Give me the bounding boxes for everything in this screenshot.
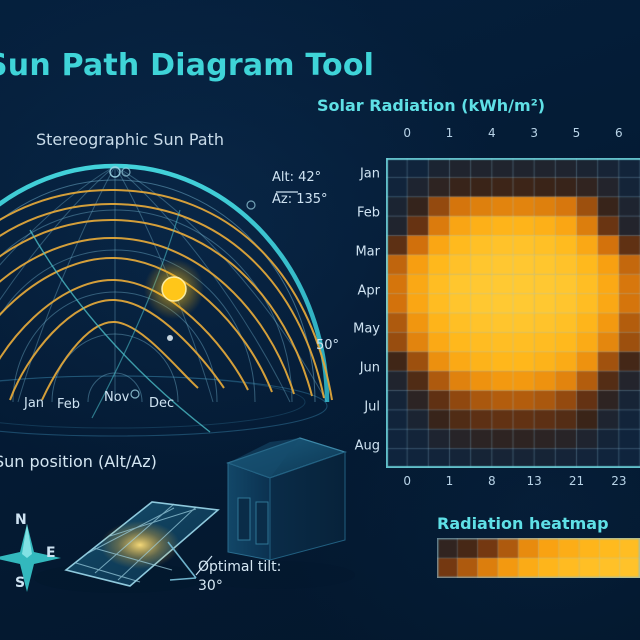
heatmap-month-label-feb: Feb [357, 206, 380, 221]
heatmap-month-label-jun: Jun [360, 361, 380, 376]
solar-panel-house-scene [0, 430, 360, 640]
heatmap-title: Solar Radiation (kWh/m²) [222, 96, 640, 115]
sunpath-month-label-nov: Nov [104, 390, 129, 405]
solar-radiation-heatmap[interactable] [386, 158, 640, 468]
app-root: Sun Path Diagram Tool Stereographic Sun … [0, 0, 640, 640]
sun-path-panel-title: Stereographic Sun Path [36, 130, 224, 149]
heatmap-top-tick-1: 1 [446, 126, 454, 140]
heatmap-top-axis: 014356 [386, 126, 640, 142]
house-illustration [228, 438, 345, 560]
optimal-tilt-annotation: Optimal tilt: 30° [198, 558, 281, 596]
heatmap-top-tick-2: 4 [488, 126, 496, 140]
heatmap-top-tick-4: 5 [573, 126, 581, 140]
sun-marker [144, 259, 204, 319]
sunpath-month-label-dec: Dec [149, 396, 174, 411]
heatmap-bottom-axis: 018132123 [386, 474, 640, 490]
heatmap-bottom-tick-4: 21 [569, 474, 584, 488]
heatmap-bottom-tick-1: 1 [446, 474, 454, 488]
radiation-heatmap-strip[interactable] [437, 538, 640, 578]
page-title: Sun Path Diagram Tool [0, 48, 374, 83]
heatmap-canvas[interactable] [386, 158, 640, 468]
azimuth-readout: Az: 135° [272, 192, 328, 207]
heatmap-month-label-apr: Apr [358, 283, 381, 298]
house-window-left [238, 498, 250, 540]
radiation-strip-title: Radiation heatmap [437, 514, 609, 533]
heatmap-bottom-tick-0: 0 [403, 474, 411, 488]
heatmap-month-axis: JanFebMarAprMayJunJulAug [336, 158, 380, 468]
heatmap-top-tick-3: 3 [530, 126, 538, 140]
heatmap-bottom-tick-2: 8 [488, 474, 496, 488]
house-window-right [256, 502, 268, 544]
radiation-strip-canvas[interactable] [437, 538, 640, 578]
heatmap-month-label-may: May [353, 322, 380, 337]
altitude-readout: Alt: 42° [272, 170, 321, 185]
sunpath-month-label-jan: Jan [24, 396, 44, 411]
heatmap-top-tick-5: 6 [615, 126, 623, 140]
heatmap-month-label-jan: Jan [360, 167, 380, 182]
heatmap-bottom-tick-5: 23 [611, 474, 626, 488]
sunpath-month-label-feb: Feb [57, 397, 80, 412]
heatmap-month-label-mar: Mar [355, 244, 380, 259]
heatmap-month-label-jul: Jul [364, 399, 380, 414]
heatmap-month-label-aug: Aug [355, 438, 380, 453]
heatmap-bottom-tick-3: 13 [527, 474, 542, 488]
heatmap-top-tick-0: 0 [403, 126, 411, 140]
